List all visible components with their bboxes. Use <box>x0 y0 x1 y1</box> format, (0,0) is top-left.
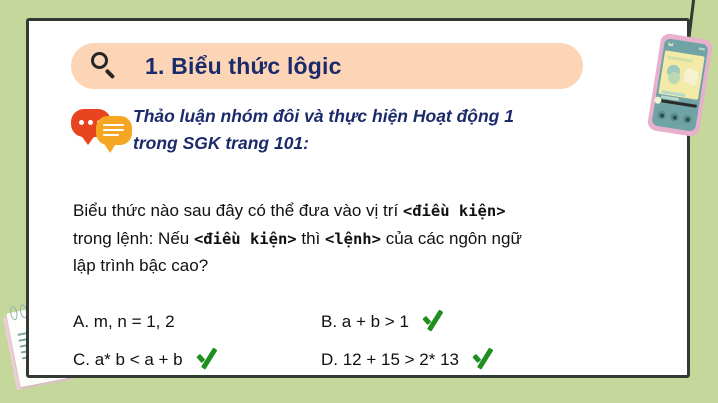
option-c[interactable]: C. a* b < a + b <box>73 347 221 373</box>
page-title: 1. Biểu thức lôgic <box>145 53 342 80</box>
search-icon <box>89 51 119 81</box>
question-line-2-after: của các ngôn ngữ <box>381 229 522 248</box>
answer-options: A. m, n = 1, 2 B. a + b > 1 C. a* b < a … <box>73 309 673 385</box>
option-d-check-icon <box>471 347 497 373</box>
option-a-label: A. m, n = 1, 2 <box>73 312 175 332</box>
slide-stage: 1. Biểu thức lôgic Thảo luận nhóm đôi và… <box>0 0 718 403</box>
question-line-1: Biểu thức nào sau đây có thể đưa vào vị … <box>73 197 673 225</box>
question-line-2-before: trong lệnh: Nếu <box>73 229 194 248</box>
option-b[interactable]: B. a + b > 1 <box>321 309 447 335</box>
option-row-2: C. a* b < a + b D. 12 + 15 > 2* 13 <box>73 347 673 385</box>
question-line-2-code-2: <lệnh> <box>325 230 381 248</box>
question-body: Biểu thức nào sau đây có thể đưa vào vị … <box>73 197 673 280</box>
option-c-check-icon <box>195 347 221 373</box>
option-d-label: D. 12 + 15 > 2* 13 <box>321 350 459 370</box>
speech-bubbles-icon <box>71 107 133 155</box>
content-card: 1. Biểu thức lôgic Thảo luận nhóm đôi và… <box>26 18 690 378</box>
option-d[interactable]: D. 12 + 15 > 2* 13 <box>321 347 497 373</box>
question-line-1-before: Biểu thức nào sau đây có thể đưa vào vị … <box>73 201 403 220</box>
question-line-3: lập trình bậc cao? <box>73 252 673 280</box>
option-b-check-icon <box>421 309 447 335</box>
option-c-label: C. a* b < a + b <box>73 350 183 370</box>
question-line-2: trong lệnh: Nếu <điều kiện> thì <lệnh> c… <box>73 225 673 253</box>
question-line-1-code: <điều kiện> <box>403 202 506 220</box>
option-row-1: A. m, n = 1, 2 B. a + b > 1 <box>73 309 673 347</box>
question-line-2-code-1: <điều kiện> <box>194 230 297 248</box>
instruction-block: Thảo luận nhóm đôi và thực hiện Hoạt độn… <box>71 103 661 157</box>
instruction-line-1: Thảo luận nhóm đôi và thực hiện Hoạt độn… <box>133 103 514 130</box>
question-line-2-middle: thì <box>297 229 325 248</box>
option-b-label: B. a + b > 1 <box>321 312 409 332</box>
option-a[interactable]: A. m, n = 1, 2 <box>73 309 213 335</box>
section-title-pill: 1. Biểu thức lôgic <box>71 43 583 89</box>
instruction-line-2: trong SGK trang 101: <box>133 130 514 157</box>
